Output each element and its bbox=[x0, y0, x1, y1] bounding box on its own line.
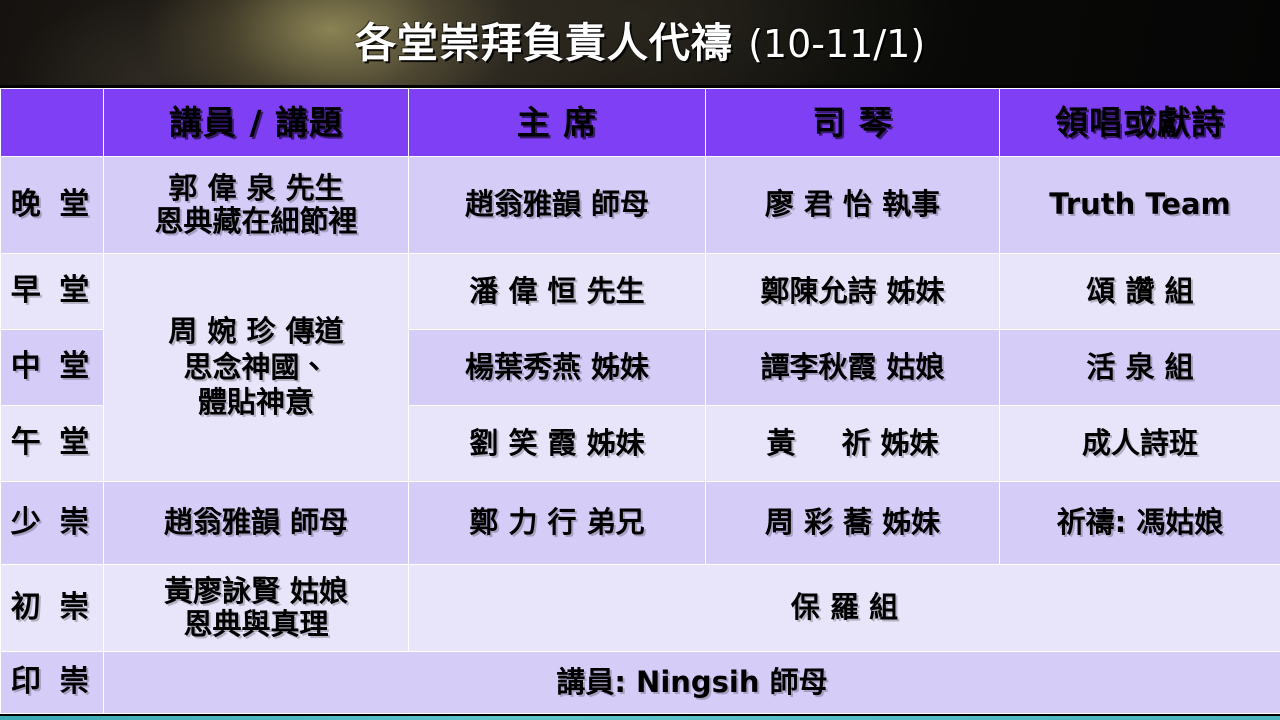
table-row: 早 堂 周 婉 珍 傳道 思念神國、 體貼神意 潘 偉 恒 先生 鄭陳允詩 姊妹… bbox=[1, 254, 1280, 330]
column-header-worship: 領唱或獻詩 bbox=[1000, 89, 1280, 157]
page-title: 各堂崇拜負責人代禱 (10-11/1) bbox=[0, 6, 1280, 81]
sermon-topic: 恩典與真理 bbox=[106, 608, 406, 641]
speaker-cell: 黃廖詠賢 姑娘 恩典與真理 bbox=[104, 565, 409, 652]
header-row: 講員 / 講題 主 席 司 琴 領唱或獻詩 bbox=[1, 89, 1280, 157]
worship-cell: 頌 讚 組 bbox=[1000, 254, 1280, 330]
bottom-accent-rule bbox=[0, 716, 1280, 720]
pianist-cell: 譚李秋霞 姑娘 bbox=[706, 330, 1000, 406]
speaker-name: 黃廖詠賢 姑娘 bbox=[106, 575, 406, 608]
worship-cell: Truth Team bbox=[1000, 157, 1280, 254]
column-header-speaker: 講員 / 講題 bbox=[104, 89, 409, 157]
table-row: 晚 堂 郭 偉 泉 先生 恩典藏在細節裡 趙翁雅韻 師母 廖 君 怡 執事 Tr… bbox=[1, 157, 1280, 254]
worship-cell: 成人詩班 bbox=[1000, 406, 1280, 482]
table-body: 晚 堂 郭 偉 泉 先生 恩典藏在細節裡 趙翁雅韻 師母 廖 君 怡 執事 Tr… bbox=[1, 157, 1280, 714]
table-row: 少 崇 趙翁雅韻 師母 鄭 力 行 弟兄 周 彩 蕎 姊妹 祈禱: 馮姑娘 bbox=[1, 482, 1280, 565]
chair-cell: 趙翁雅韻 師母 bbox=[409, 157, 706, 254]
speaker-cell: 趙翁雅韻 師母 bbox=[104, 482, 409, 565]
title-banner: 各堂崇拜負責人代禱 (10-11/1) bbox=[0, 0, 1280, 88]
sermon-topic-line2: 體貼神意 bbox=[106, 386, 406, 419]
speaker-cell: 郭 偉 泉 先生 恩典藏在細節裡 bbox=[104, 157, 409, 254]
pianist-surname: 黃 bbox=[766, 426, 795, 460]
session-label: 午 堂 bbox=[1, 406, 104, 482]
chair-cell: 鄭 力 行 弟兄 bbox=[409, 482, 706, 565]
pianist-cell: 廖 君 怡 執事 bbox=[706, 157, 1000, 254]
column-header-chair: 主 席 bbox=[409, 89, 706, 157]
chair-cell: 劉 笑 霞 姊妹 bbox=[409, 406, 706, 482]
worship-cell: 祈禱: 馮姑娘 bbox=[1000, 482, 1280, 565]
session-label: 少 崇 bbox=[1, 482, 104, 565]
session-label: 晚 堂 bbox=[1, 157, 104, 254]
slide-root: 各堂崇拜負責人代禱 (10-11/1) 講員 / 講題 主 席 司 琴 領唱或獻… bbox=[0, 0, 1280, 720]
page-title-date-range: (10-11/1) bbox=[748, 22, 925, 66]
pianist-cell: 鄭陳允詩 姊妹 bbox=[706, 254, 1000, 330]
combined-speaker-cell: 講員: Ningsih 師母 bbox=[104, 652, 1280, 714]
session-label: 早 堂 bbox=[1, 254, 104, 330]
worship-cell: 活 泉 組 bbox=[1000, 330, 1280, 406]
pianist-givenname: 祈 姊妹 bbox=[841, 426, 938, 460]
pianist-cell: 周 彩 蕎 姊妹 bbox=[706, 482, 1000, 565]
chair-cell: 潘 偉 恒 先生 bbox=[409, 254, 706, 330]
session-label: 印 崇 bbox=[1, 652, 104, 714]
speaker-name: 周 婉 珍 傳道 bbox=[106, 315, 406, 348]
sermon-topic-line1: 思念神國、 bbox=[106, 351, 406, 384]
chair-cell: 楊葉秀燕 姊妹 bbox=[409, 330, 706, 406]
speaker-cell-merged: 周 婉 珍 傳道 思念神國、 體貼神意 bbox=[104, 254, 409, 482]
table-header: 講員 / 講題 主 席 司 琴 領唱或獻詩 bbox=[1, 89, 1280, 157]
table-row: 印 崇 講員: Ningsih 師母 bbox=[1, 652, 1280, 714]
session-label: 初 崇 bbox=[1, 565, 104, 652]
speaker-name: 郭 偉 泉 先生 bbox=[106, 172, 406, 205]
worship-schedule-table: 講員 / 講題 主 席 司 琴 領唱或獻詩 晚 堂 郭 偉 泉 先生 恩典藏在細… bbox=[0, 88, 1280, 714]
sermon-topic: 恩典藏在細節裡 bbox=[106, 205, 406, 238]
page-title-main: 各堂崇拜負責人代禱 bbox=[355, 19, 733, 67]
column-header-pianist: 司 琴 bbox=[706, 89, 1000, 157]
table-row: 初 崇 黃廖詠賢 姑娘 恩典與真理 保 羅 組 bbox=[1, 565, 1280, 652]
session-label: 中 堂 bbox=[1, 330, 104, 406]
combined-duty-cell: 保 羅 組 bbox=[409, 565, 1280, 652]
column-header-session bbox=[1, 89, 104, 157]
pianist-cell: 黃祈 姊妹 bbox=[706, 406, 1000, 482]
